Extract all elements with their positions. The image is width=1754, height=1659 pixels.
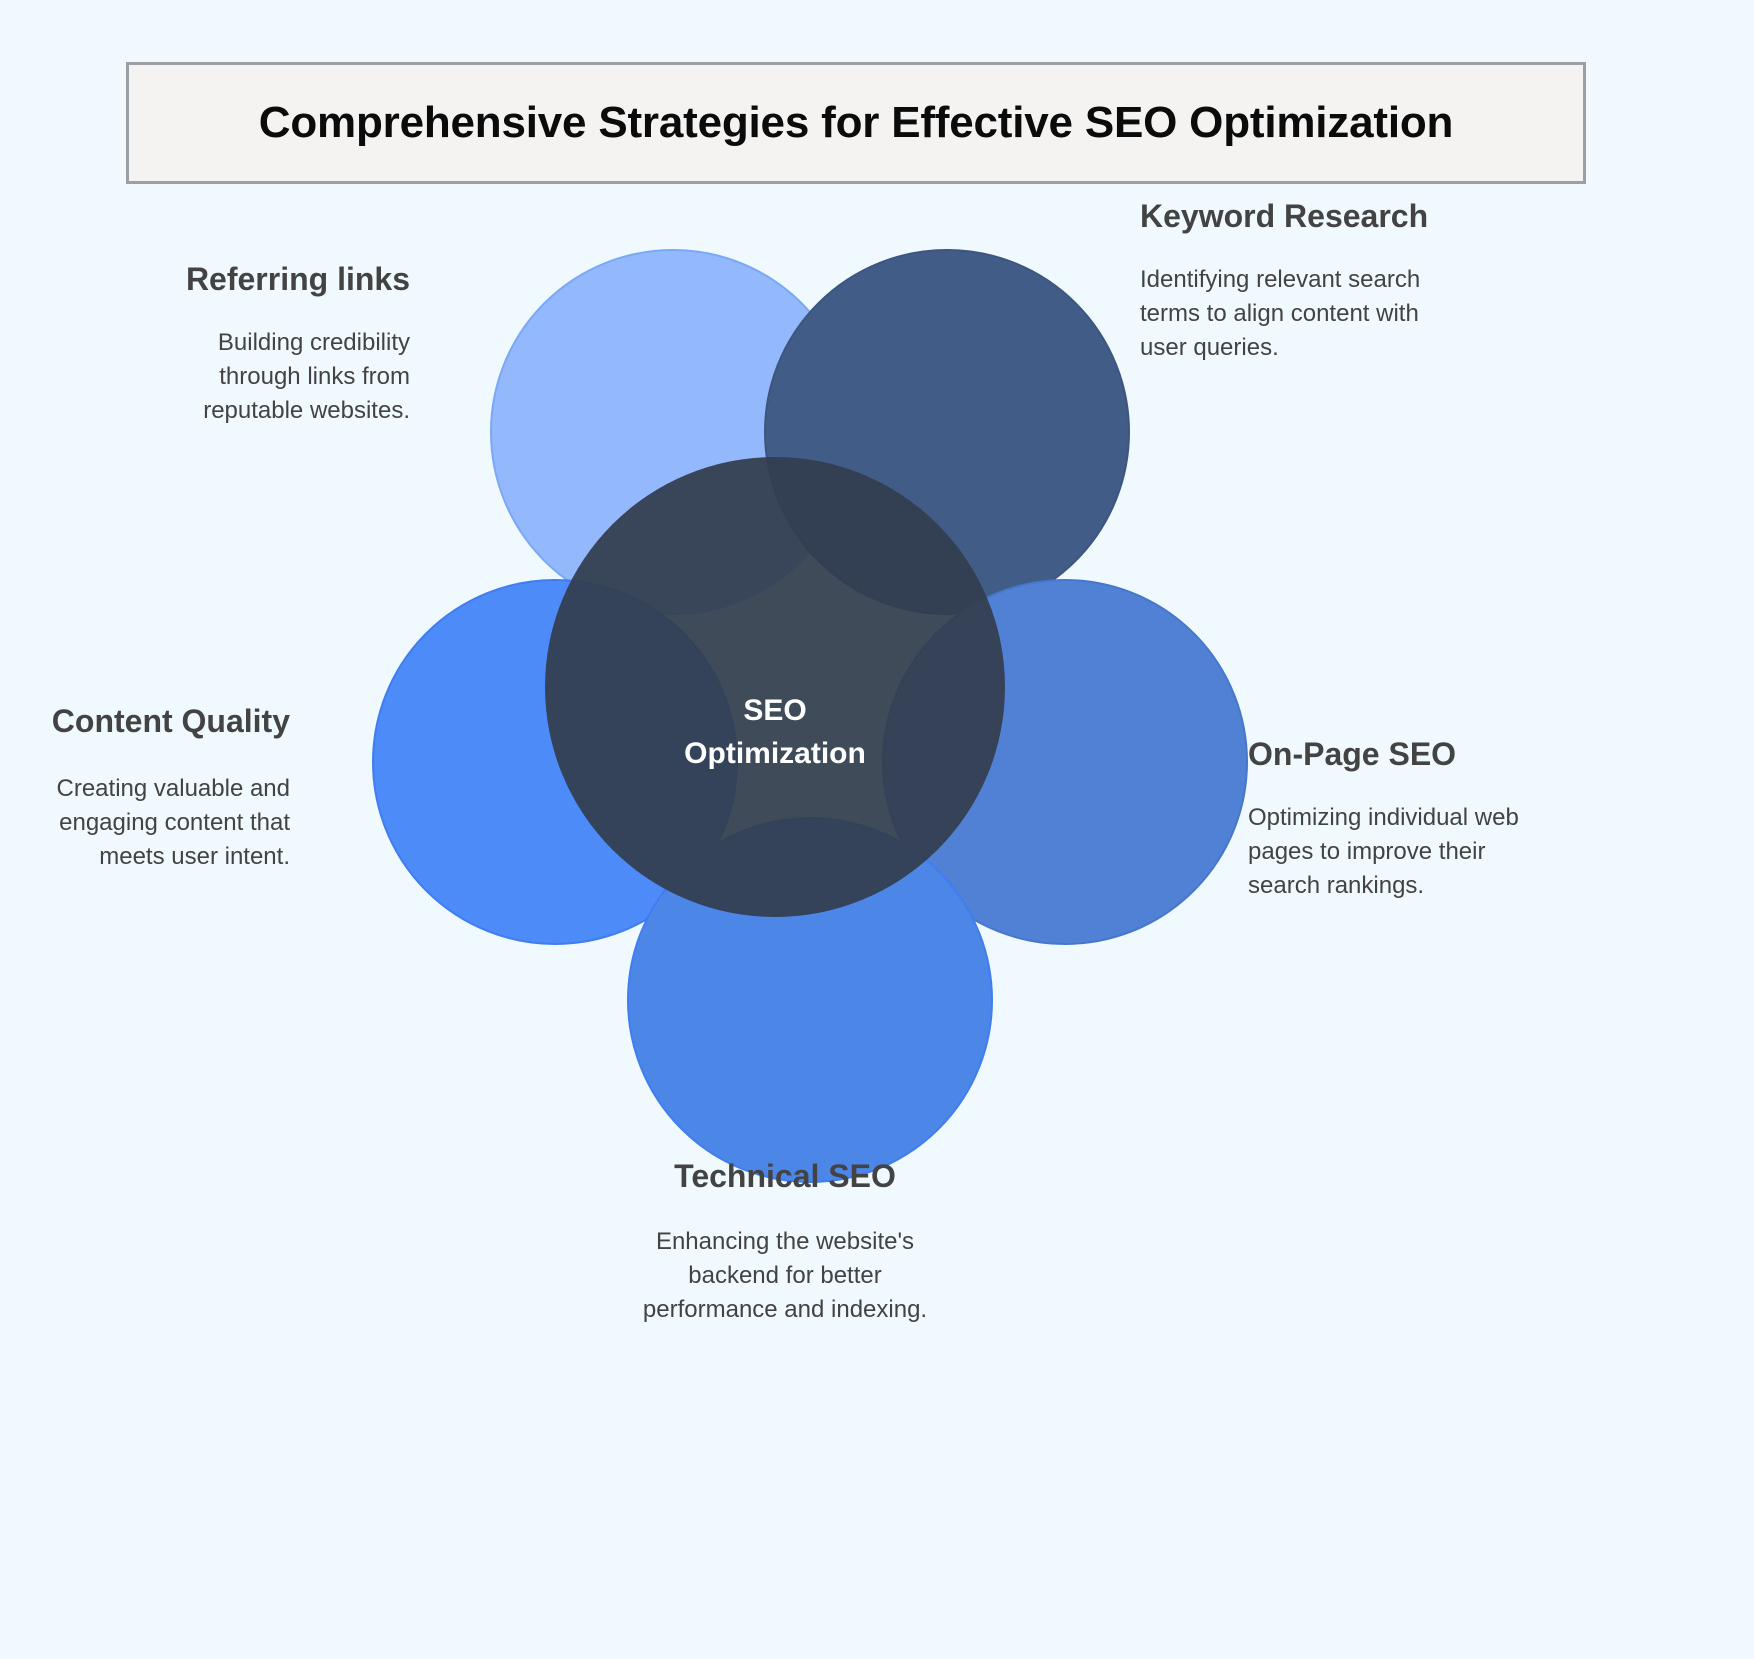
callout-title-keyword-research: Keyword Research bbox=[1140, 195, 1440, 237]
callout-title-onpage-seo: On-Page SEO bbox=[1248, 733, 1528, 775]
callout-title-referring-links: Referring links bbox=[150, 258, 410, 300]
callout-body-keyword-research: Identifying relevant search terms to ali… bbox=[1140, 263, 1440, 365]
callout-title-technical-seo: Technical SEO bbox=[620, 1155, 950, 1197]
callout-body-referring-links: Building credibility through links from … bbox=[150, 326, 410, 428]
callout-body-content-quality: Creating valuable and engaging content t… bbox=[50, 772, 290, 874]
callout-content-quality[interactable]: Content Quality Creating valuable and en… bbox=[50, 700, 290, 874]
seo-petal-diagram: SEO Optimization Referring links Buildin… bbox=[0, 0, 1754, 1659]
callout-referring-links[interactable]: Referring links Building credibility thr… bbox=[150, 258, 410, 428]
callout-title-content-quality: Content Quality bbox=[50, 700, 290, 742]
callout-body-technical-seo: Enhancing the website's backend for bett… bbox=[620, 1225, 950, 1327]
callout-onpage-seo[interactable]: On-Page SEO Optimizing individual web pa… bbox=[1248, 733, 1528, 903]
center-hub-circle[interactable] bbox=[545, 457, 1005, 917]
callout-body-onpage-seo: Optimizing individual web pages to impro… bbox=[1248, 801, 1528, 903]
callout-keyword-research[interactable]: Keyword Research Identifying relevant se… bbox=[1140, 195, 1440, 365]
callout-technical-seo[interactable]: Technical SEO Enhancing the website's ba… bbox=[620, 1155, 950, 1327]
